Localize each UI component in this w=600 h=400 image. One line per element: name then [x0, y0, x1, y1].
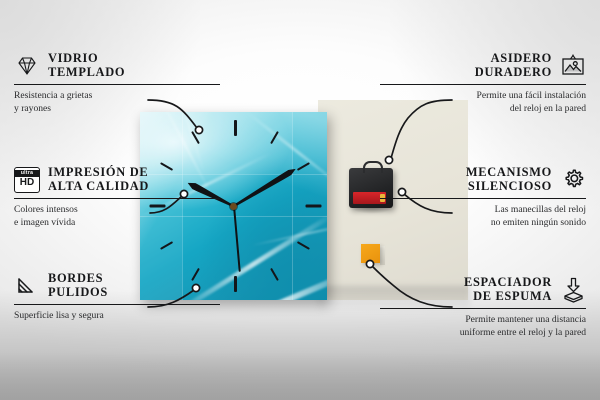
feature-header: BORDES PULIDOS: [14, 272, 232, 300]
feature-asidero-duradero: ASIDERO DURADERO Permite una fácil insta…: [368, 52, 586, 116]
feature-header: ultra HD IMPRESIÓN DE ALTA CALIDAD: [14, 166, 232, 194]
feature-desc-line2: e imagen vívida: [14, 217, 232, 230]
feature-title: MECANISMO SILENCIOSO: [466, 166, 552, 194]
feature-title-line1: BORDES: [48, 272, 108, 286]
feature-description: Las manecillas del reloj no emiten ningú…: [368, 204, 586, 230]
feature-mecanismo-silencioso: MECANISMO SILENCIOSO Las manecillas del …: [368, 166, 586, 230]
feature-desc-line1: Las manecillas del reloj: [368, 204, 586, 217]
feature-desc-line1: Superficie lisa y segura: [14, 310, 232, 323]
feature-divider: [14, 198, 220, 200]
feature-divider: [380, 84, 586, 86]
feature-title: ESPACIADOR DE ESPUMA: [464, 276, 552, 304]
feature-desc-line2: y rayones: [14, 103, 232, 116]
feature-desc-line1: Colores intensos: [14, 204, 232, 217]
feature-desc-line2: del reloj en la pared: [368, 103, 586, 116]
connector-dot-espaciador: [366, 260, 373, 267]
feature-desc-line2: no emiten ningún sonido: [368, 217, 586, 230]
feature-title-line2: SILENCIOSO: [468, 180, 552, 194]
feature-espaciador-de-espuma: ESPACIADOR DE ESPUMA Permite mantener un…: [368, 276, 586, 340]
foam-spacer-arrow-icon: [560, 277, 586, 303]
feature-desc-line1: Permite mantener una distancia: [368, 314, 586, 327]
feature-title-line1: VIDRIO: [48, 52, 125, 66]
feature-title: BORDES PULIDOS: [48, 272, 108, 300]
feature-desc-line1: Permite una fácil instalación: [368, 90, 586, 103]
feature-header: VIDRIO TEMPLADO: [14, 52, 232, 80]
hd-badge-top-label: ultra: [15, 170, 39, 177]
connector-dot-vidrio-templado: [195, 126, 202, 133]
feature-title-line2: TEMPLADO: [48, 66, 125, 80]
feature-header: MECANISMO SILENCIOSO: [368, 166, 586, 194]
feature-title-line1: ESPACIADOR: [464, 276, 552, 290]
feature-title-line2: PULIDOS: [48, 286, 108, 300]
picture-frame-hanger-icon: [560, 53, 586, 79]
polished-edges-icon: [14, 273, 40, 299]
feature-title-line2: DURADERO: [475, 66, 552, 80]
feature-impresion-alta-calidad: ultra HD IMPRESIÓN DE ALTA CALIDAD Color…: [14, 166, 232, 230]
connector-dot-asidero: [385, 156, 392, 163]
feature-title-line1: ASIDERO: [491, 52, 552, 66]
feature-header: ESPACIADOR DE ESPUMA: [368, 276, 586, 304]
feature-description: Resistencia a grietas y rayones: [14, 90, 232, 116]
feature-divider: [380, 198, 586, 200]
feature-description: Colores intensos e imagen vívida: [14, 204, 232, 230]
feature-divider: [14, 304, 220, 306]
diamond-icon: [14, 53, 40, 79]
feature-divider: [380, 308, 586, 310]
feature-description: Permite mantener una distancia uniforme …: [368, 314, 586, 340]
feature-title: VIDRIO TEMPLADO: [48, 52, 125, 80]
feature-desc-line1: Resistencia a grietas: [14, 90, 232, 103]
feature-divider: [14, 84, 220, 86]
feature-title-line2: ALTA CALIDAD: [48, 180, 149, 194]
feature-description: Permite una fácil instalación del reloj …: [368, 90, 586, 116]
feature-description: Superficie lisa y segura: [14, 310, 232, 323]
feature-header: ASIDERO DURADERO: [368, 52, 586, 80]
feature-vidrio-templado: VIDRIO TEMPLADO Resistencia a grietas y …: [14, 52, 232, 116]
feature-title-line2: DE ESPUMA: [473, 290, 552, 304]
hd-badge-bottom-label: HD: [20, 177, 34, 189]
feature-title: ASIDERO DURADERO: [475, 52, 552, 80]
feature-title: IMPRESIÓN DE ALTA CALIDAD: [48, 166, 149, 194]
feature-title-line1: MECANISMO: [466, 166, 552, 180]
feature-bordes-pulidos: BORDES PULIDOS Superficie lisa y segura: [14, 272, 232, 323]
feature-desc-line2: uniforme entre el reloj y la pared: [368, 327, 586, 340]
infographic-canvas: VIDRIO TEMPLADO Resistencia a grietas y …: [0, 0, 600, 400]
feature-title-line1: IMPRESIÓN DE: [48, 166, 149, 180]
ultra-hd-badge-icon: ultra HD: [14, 167, 40, 193]
gear-icon: [560, 167, 586, 193]
